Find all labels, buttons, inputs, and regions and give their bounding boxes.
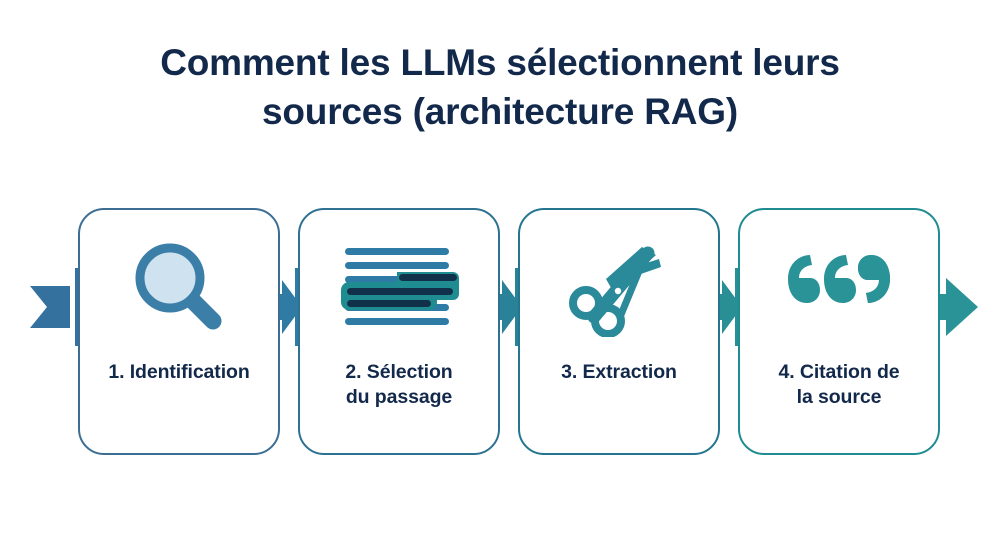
step-card-extraction[interactable]: 3. Extraction [518, 208, 720, 455]
page-title: Comment les LLMs sélectionnent leurs sou… [0, 38, 1000, 136]
step-card-identification[interactable]: 1. Identification [78, 208, 280, 455]
step-label-3: 3. Extraction [551, 360, 687, 385]
step-label-2: 2. Sélection du passage [335, 360, 462, 411]
step-label-1: 1. Identification [98, 360, 259, 385]
step-label-4: 4. Citation de la source [768, 360, 909, 411]
step-label-4-line-2: la source [797, 386, 882, 408]
rag-flow-diagram: 1. Identification [0, 208, 1000, 458]
step-label-2-line-2: du passage [346, 386, 452, 408]
step-label-2-line-1: 2. Sélection [345, 361, 452, 383]
magnifier-icon [80, 210, 278, 360]
step-label-3-text: 3. Extraction [561, 361, 677, 383]
step-card-citation[interactable]: 4. Citation de la source [738, 208, 940, 455]
highlighted-text-icon [300, 210, 498, 360]
page-title-line-1: Comment les LLMs sélectionnent leurs [0, 38, 1000, 87]
scissors-icon [520, 210, 718, 360]
step-card-selection[interactable]: 2. Sélection du passage [298, 208, 500, 455]
page-title-line-2: sources (architecture RAG) [0, 87, 1000, 136]
step-label-1-text: 1. Identification [108, 361, 249, 383]
quotation-marks-icon [740, 210, 938, 360]
step-label-4-line-1: 4. Citation de [778, 361, 899, 383]
